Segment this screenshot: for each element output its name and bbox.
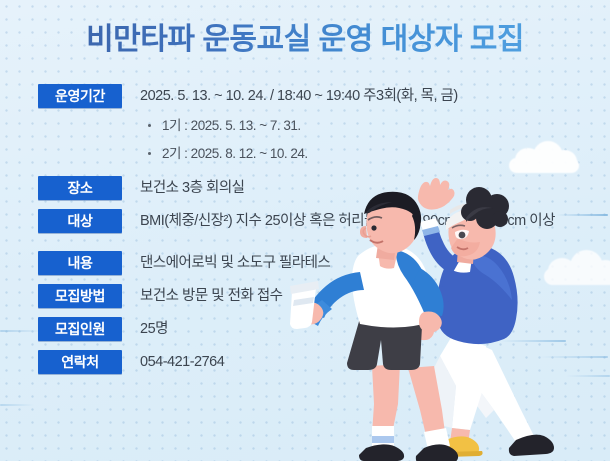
row-label-target: 대상 (38, 209, 122, 233)
info-table: 운영기간 2025. 5. 13. ~ 10. 24. / 18:40 ~ 19… (38, 84, 598, 381)
poster-canvas: 비만타파 운동교실 운영 대상자 모집 운영기간 2025. 5. 13. ~ … (0, 0, 610, 461)
row-label-place: 장소 (38, 176, 122, 200)
period-main-text: 2025. 5. 13. ~ 10. 24. / 18:40 ~ 19:40 주… (140, 85, 570, 108)
row-value-period: 2025. 5. 13. ~ 10. 24. / 18:40 ~ 19:40 주… (140, 84, 570, 166)
row-value-content: 댄스에어로빅 및 소도구 필라테스 (140, 251, 570, 275)
table-row-method: 모집방법 보건소 방문 및 전화 접수 (38, 284, 598, 308)
row-label-method: 모집방법 (38, 284, 122, 308)
table-row-target: 대상 BMI(체중/신장²) 지수 25이상 혹은 허리둘레 남성 90cm, … (38, 209, 598, 233)
table-row-period: 운영기간 2025. 5. 13. ~ 10. 24. / 18:40 ~ 19… (38, 84, 598, 166)
row-label-content: 내용 (38, 251, 122, 275)
row-label-period: 운영기간 (38, 84, 122, 108)
row-spacer (38, 242, 598, 251)
row-value-target: BMI(체중/신장²) 지수 25이상 혹은 허리둘레 남성 90cm, 여성 … (140, 209, 570, 233)
table-row-contact: 연락처 054-421-2764 (38, 350, 598, 374)
table-row-place: 장소 보건소 3층 회의실 (38, 176, 598, 200)
row-label-capacity: 모집인원 (38, 317, 122, 341)
poster-title: 비만타파 운동교실 운영 대상자 모집 (0, 14, 610, 58)
row-value-place: 보건소 3층 회의실 (140, 176, 570, 200)
speed-line (0, 404, 34, 406)
table-row-content: 내용 댄스에어로빅 및 소도구 필라테스 (38, 251, 598, 275)
period-sublist: 1기 : 2025. 5. 13. ~ 7. 31. 2기 : 2025. 8.… (140, 117, 570, 162)
table-row-capacity: 모집인원 25명 (38, 317, 598, 341)
row-label-contact: 연락처 (38, 350, 122, 374)
row-value-contact: 054-421-2764 (140, 350, 570, 374)
list-item: 1기 : 2025. 5. 13. ~ 7. 31. (140, 117, 570, 134)
list-item: 2기 : 2025. 8. 12. ~ 10. 24. (140, 145, 570, 162)
row-value-method: 보건소 방문 및 전화 접수 (140, 284, 570, 308)
row-value-capacity: 25명 (140, 317, 570, 341)
